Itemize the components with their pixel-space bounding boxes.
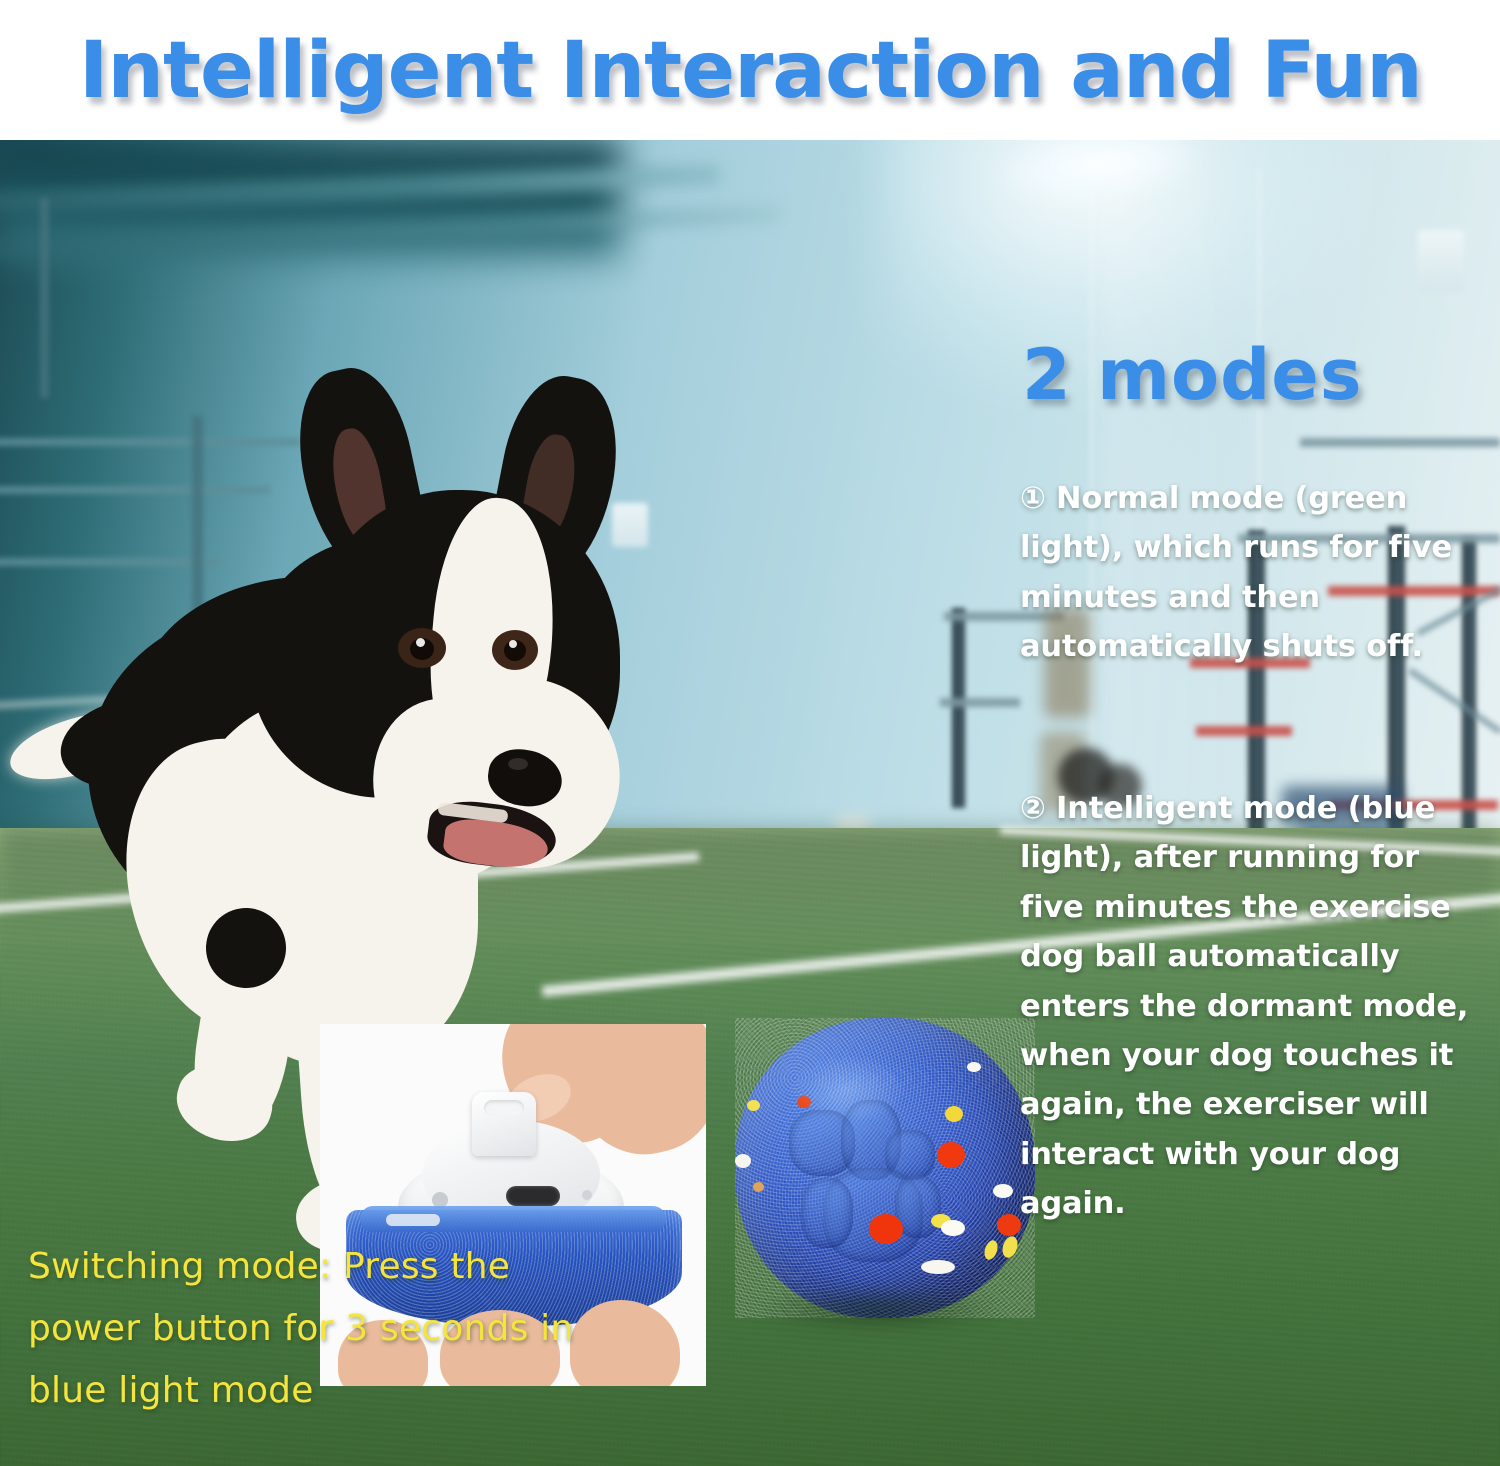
rig-post — [952, 608, 965, 808]
dog-eye-highlight-right — [509, 640, 517, 648]
rig-crossbar-red — [1196, 726, 1292, 736]
header-band: Intelligent Interaction and Fun — [0, 0, 1500, 140]
dog-border-collie — [0, 138, 760, 1138]
switching-mode-note: Switching mode: Press the power button f… — [28, 1236, 628, 1422]
page-title: Intelligent Interaction and Fun — [79, 32, 1422, 110]
ball-fleck-red — [997, 1214, 1021, 1236]
dog-nose-highlight — [508, 758, 528, 770]
rig-crossbar — [1300, 438, 1500, 447]
inset-screw — [582, 1190, 592, 1200]
ball-fleck-yellow — [747, 1100, 760, 1111]
product-dog-ball — [735, 1018, 1035, 1318]
ball-highlight — [787, 1054, 907, 1124]
inset-usb-c-port — [506, 1186, 560, 1206]
modes-title: 2 modes — [1022, 334, 1362, 416]
product-infographic: Intelligent Interaction and Fun — [0, 0, 1500, 1466]
ball-ground-shadow — [753, 1286, 1003, 1332]
ball-fleck-yellow — [945, 1106, 963, 1122]
inset-power-button-cap — [484, 1100, 524, 1116]
ball-fleck-white — [967, 1062, 981, 1072]
hero-photo: 2 modes ① Normal mode (green light), whi… — [0, 138, 1500, 1466]
ball-fleck-red — [869, 1214, 903, 1244]
ball-fleck-red — [937, 1142, 965, 1168]
ball-fleck-tan — [753, 1182, 764, 1192]
ball-fleck-white — [941, 1220, 965, 1236]
ball-fleck-white — [921, 1260, 955, 1274]
mode-2-description: ② Intelligent mode (blue light), after r… — [1020, 784, 1490, 1229]
ball-fleck-white — [993, 1184, 1013, 1198]
wall-fixture — [1418, 230, 1464, 292]
mode-1-description: ① Normal mode (green light), which runs … — [1020, 474, 1490, 672]
dog-eye-highlight-left — [416, 638, 425, 647]
ball-fleck-white — [735, 1154, 751, 1168]
rig-crossbar — [940, 698, 1020, 707]
ball-facet — [801, 1178, 853, 1248]
inset-shell-highlight — [386, 1214, 440, 1226]
